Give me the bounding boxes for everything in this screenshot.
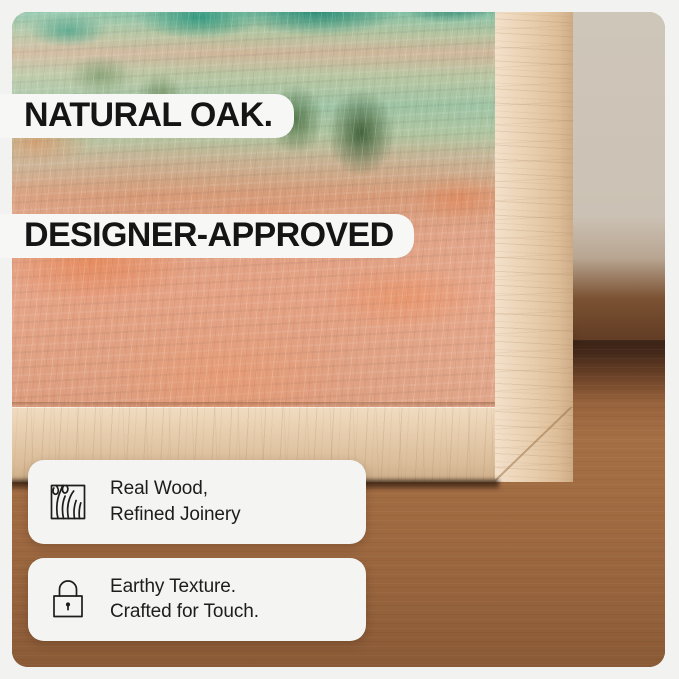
feature-line-2: Refined Joinery: [110, 504, 241, 525]
headline-line-2: DESIGNER-APPROVED: [24, 214, 414, 258]
lock-icon: [46, 577, 90, 621]
headline: NATURAL OAK. DESIGNER-APPROVED: [0, 0, 436, 351]
feature-card-earthy-texture: Earthy Texture. Crafted for Touch.: [28, 558, 366, 641]
feature-card-real-wood: Real Wood, Refined Joinery: [28, 460, 366, 543]
headline-line-1: NATURAL OAK.: [24, 94, 294, 138]
feature-card-list: Real Wood, Refined Joinery Earthy Textur…: [28, 460, 366, 641]
feature-line-1: Real Wood,: [110, 478, 208, 499]
frame-mitre-joint: [495, 407, 573, 482]
feature-card-text: Real Wood, Refined Joinery: [110, 476, 241, 527]
product-image-canvas: NATURAL OAK. DESIGNER-APPROVED Real Wood…: [0, 0, 679, 679]
wood-grain-icon: [46, 480, 90, 524]
feature-line-2: Crafted for Touch.: [110, 601, 259, 622]
feature-line-1: Earthy Texture.: [110, 576, 236, 597]
feature-card-text: Earthy Texture. Crafted for Touch.: [110, 574, 259, 625]
